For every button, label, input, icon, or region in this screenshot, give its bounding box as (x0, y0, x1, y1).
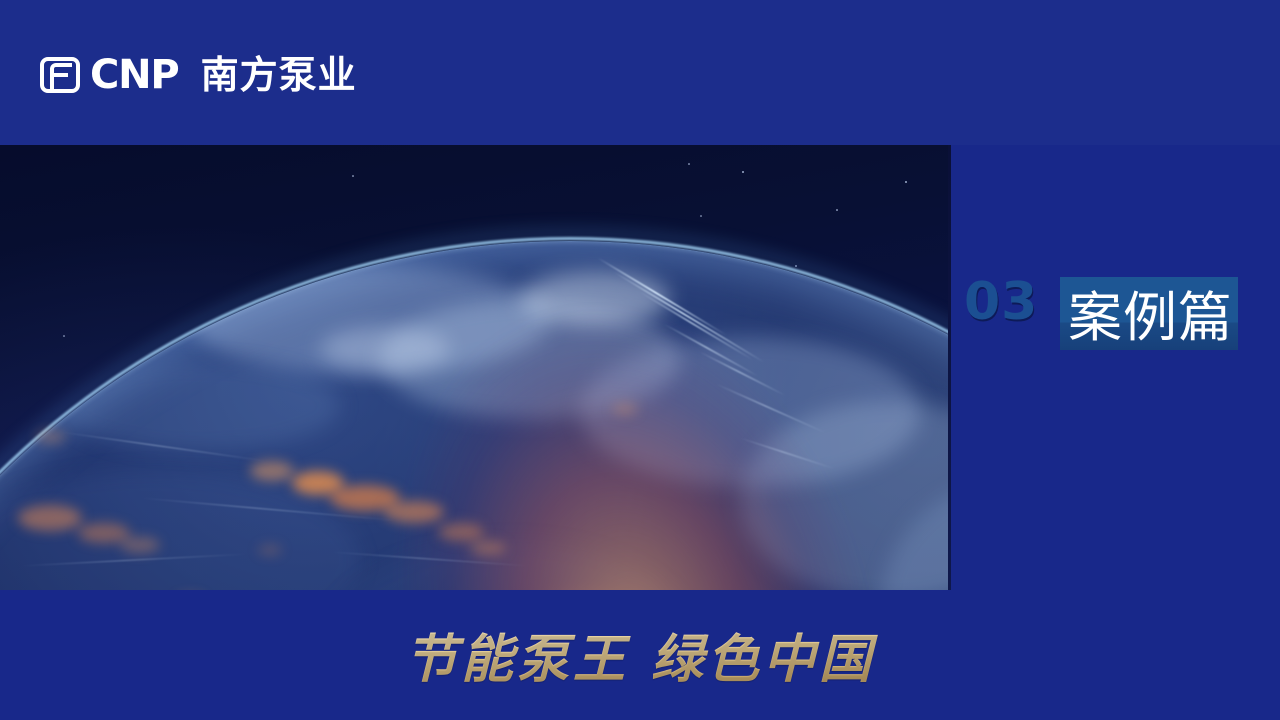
footer-slogan: 节能泵王 绿色中国 (0, 620, 1280, 700)
cnp-logo-mark-icon (40, 55, 80, 95)
section-number: 03 (964, 276, 1038, 328)
section-title-block: 03 案例篇 (950, 145, 1280, 590)
brand-latin-name: CNP (90, 55, 179, 95)
earth-from-space-night-photo (0, 145, 948, 590)
section-title-wrap: 案例篇 (1060, 277, 1238, 359)
light-streaks-layer (0, 145, 948, 590)
section-title: 案例篇 (1060, 277, 1238, 359)
brand-logo[interactable]: CNP 南方泵业 (40, 52, 357, 98)
brand-chinese-name: 南方泵业 (201, 55, 357, 95)
slide-header-band: CNP 南方泵业 (0, 0, 1280, 145)
presentation-slide: CNP 南方泵业 (0, 0, 1280, 720)
